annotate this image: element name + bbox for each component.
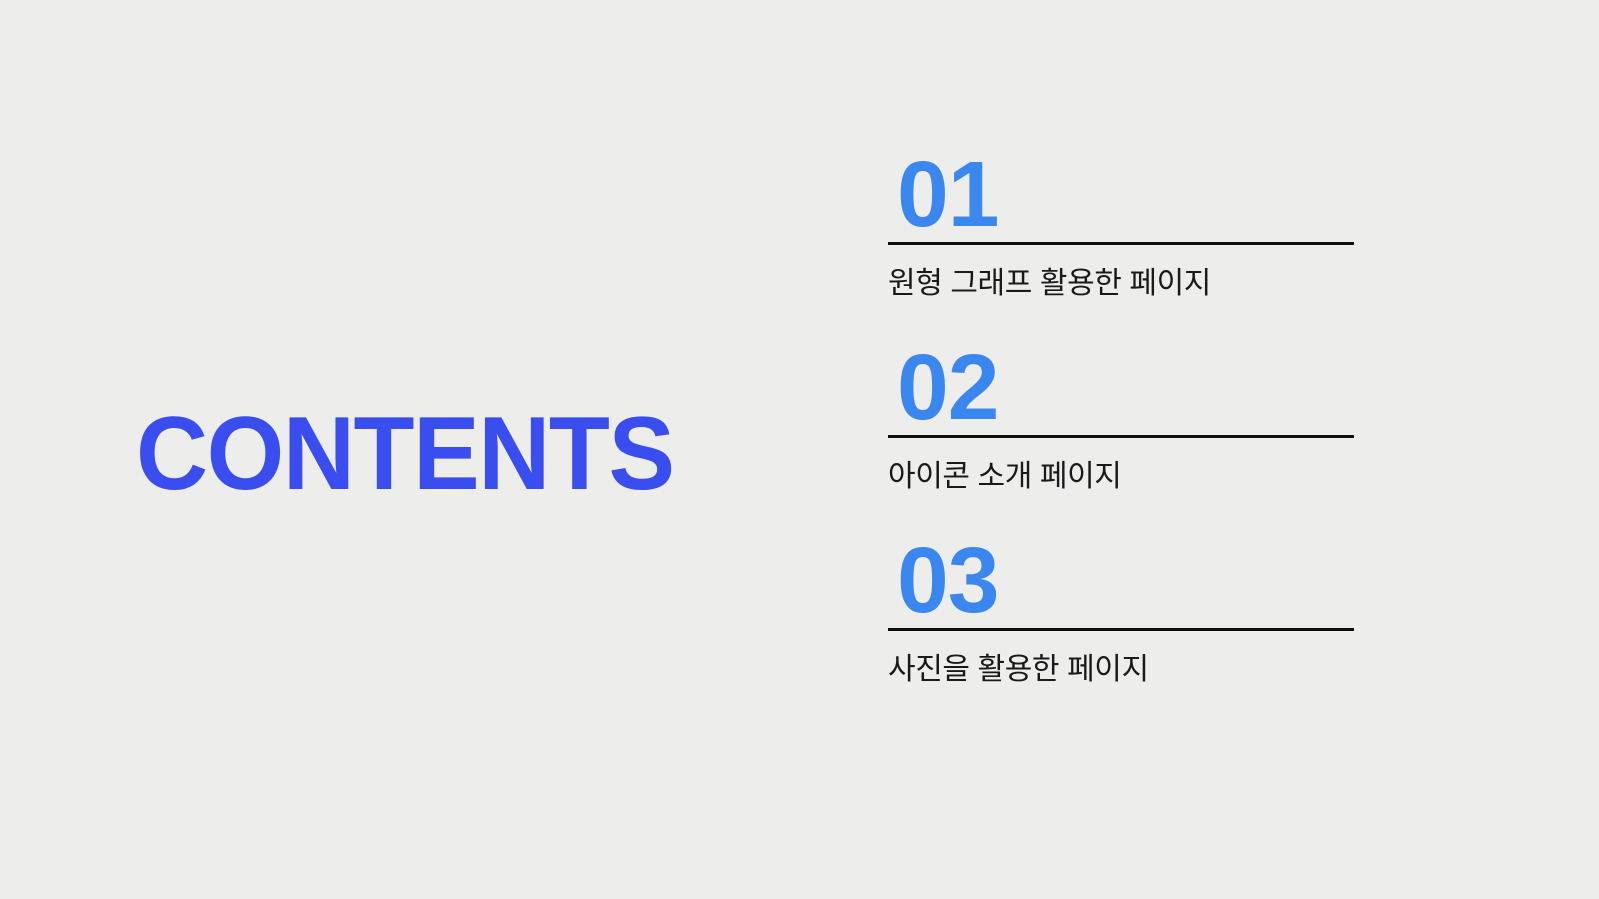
- table-of-contents: 01 원형 그래프 활용한 페이지 02 아이콘 소개 페이지 03 사진을 활…: [888, 152, 1354, 688]
- toc-caption-02: 아이콘 소개 페이지: [888, 459, 1354, 495]
- page-title: CONTENTS: [136, 402, 674, 506]
- toc-item-01[interactable]: 01 원형 그래프 활용한 페이지: [888, 152, 1354, 302]
- toc-item-03[interactable]: 03 사진을 활용한 페이지: [888, 538, 1354, 688]
- toc-caption-01: 원형 그래프 활용한 페이지: [888, 266, 1354, 302]
- toc-number-02: 02: [888, 345, 1354, 433]
- toc-caption-03: 사진을 활용한 페이지: [888, 652, 1354, 688]
- title-area: CONTENTS: [136, 398, 756, 510]
- toc-number-01: 01: [888, 152, 1354, 240]
- toc-item-02[interactable]: 02 아이콘 소개 페이지: [888, 345, 1354, 495]
- contents-slide: CONTENTS 01 원형 그래프 활용한 페이지 02 아이콘 소개 페이지…: [0, 0, 1599, 899]
- toc-number-03: 03: [888, 538, 1354, 626]
